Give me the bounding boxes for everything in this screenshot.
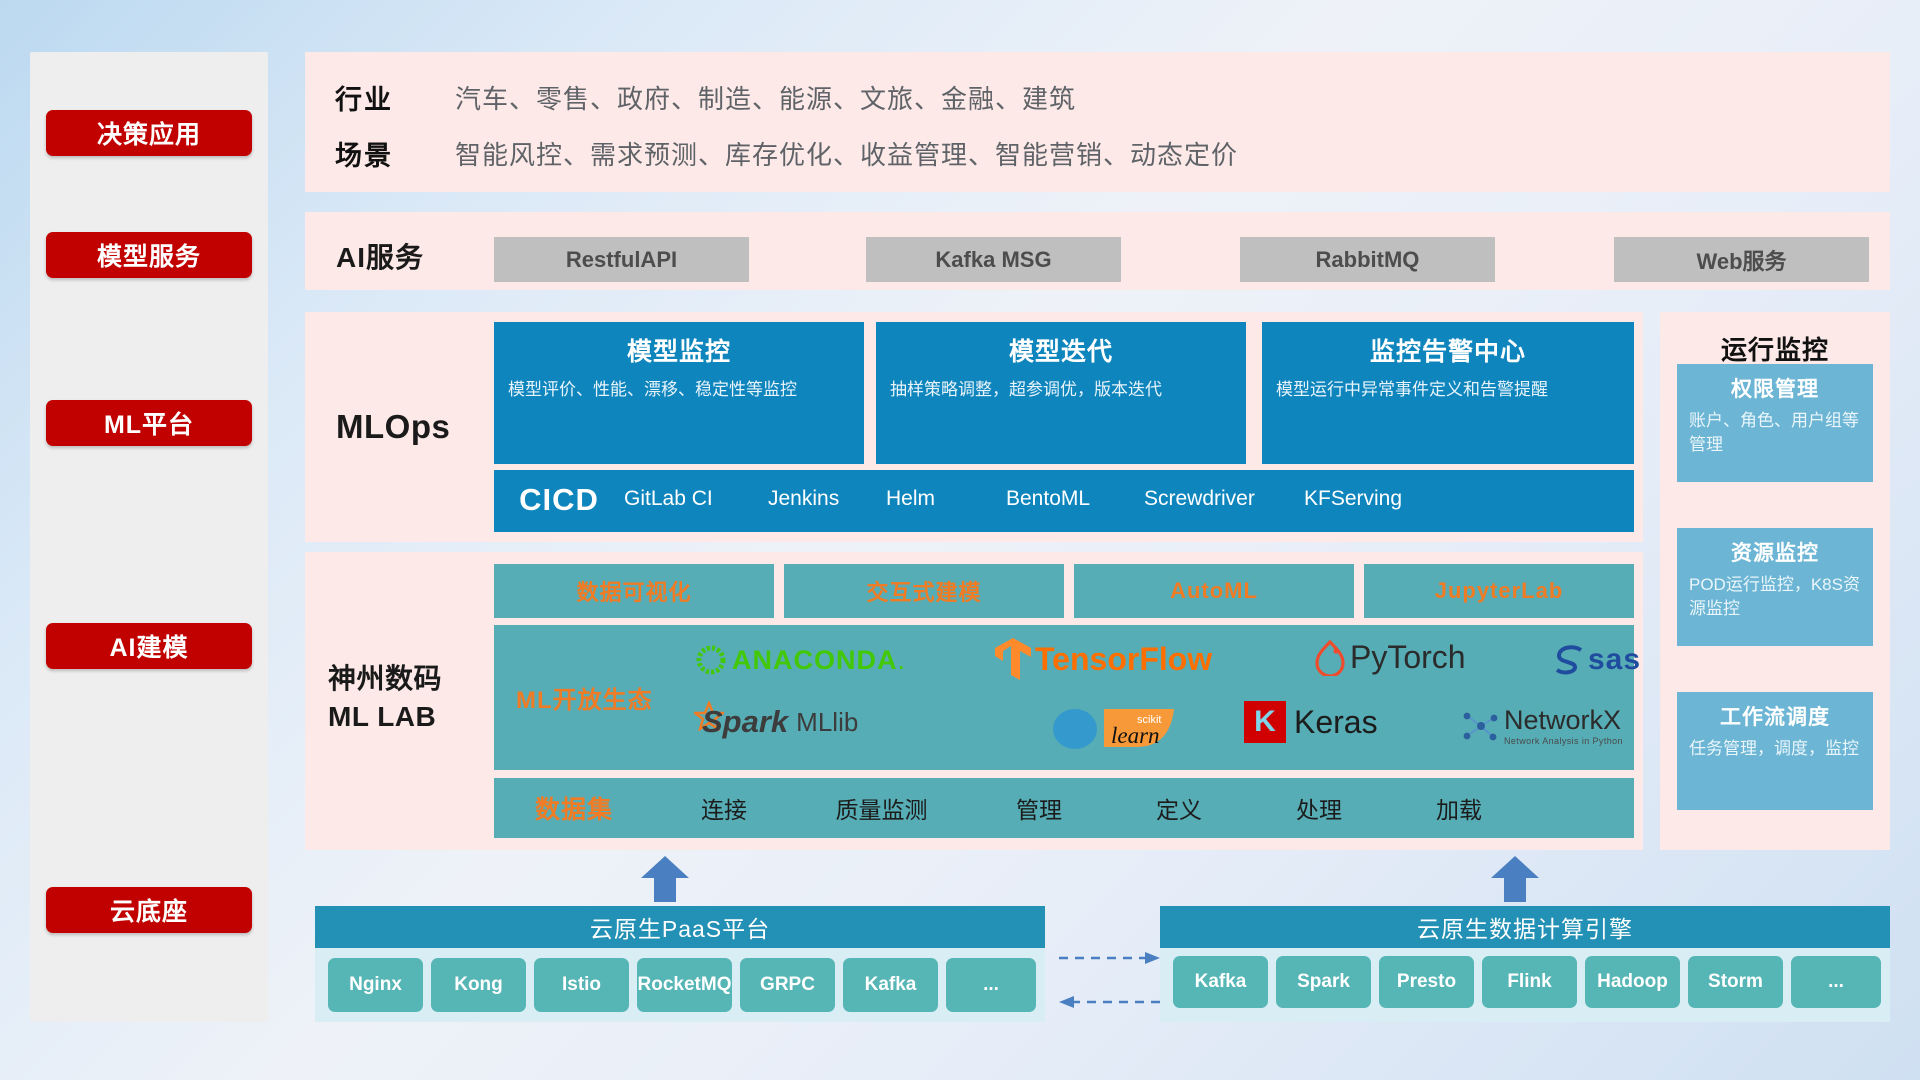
networkx-mark — [1459, 708, 1499, 744]
keras-mark: K — [1244, 701, 1286, 743]
ml-ecosystem-box: ML开放生态 ANACONDA . TensorFlow PyTorch — [494, 625, 1634, 770]
monitor-card-title: 权限管理 — [1689, 373, 1861, 403]
rail-item-ml-platform[interactable]: ML平台 — [46, 400, 252, 446]
scikit-learn-mark: scikit learn — [1049, 699, 1179, 751]
paas-chip-nginx[interactable]: Nginx — [328, 958, 423, 1012]
svg-text:learn: learn — [1111, 723, 1160, 748]
scenario-row: 场景 智能风控、需求预测、库存优化、收益管理、智能营销、动态定价 — [335, 134, 1238, 173]
monitoring-title: 运行监控 — [1660, 330, 1890, 367]
tool-chip-jupyterlab[interactable]: JupyterLab — [1364, 564, 1634, 618]
scenario-value: 智能风控、需求预测、库存优化、收益管理、智能营销、动态定价 — [455, 135, 1238, 172]
mlops-card-title: 模型迭代 — [890, 332, 1232, 368]
rail-item-ai-modeling[interactable]: AI建模 — [46, 623, 252, 669]
dataset-item-load[interactable]: 加载 — [1389, 791, 1529, 825]
dataset-item-quality-monitor[interactable]: 质量监测 — [794, 791, 969, 825]
mlops-card-alert-center[interactable]: 监控告警中心 模型运行中异常事件定义和告警提醒 — [1262, 322, 1634, 464]
mlops-card-desc: 抽样策略调整，超参调优，版本迭代 — [890, 378, 1232, 403]
tool-chip-interactive-modeling[interactable]: 交互式建模 — [784, 564, 1064, 618]
tool-chip-automl[interactable]: AutoML — [1074, 564, 1354, 618]
mlops-label: MLOps — [336, 408, 450, 446]
paas-chip-more[interactable]: ... — [946, 958, 1036, 1012]
engine-chip-storm[interactable]: Storm — [1688, 956, 1783, 1008]
mllib-logo-text: MLlib — [796, 707, 858, 738]
networkx-logo-text: NetworkX — [1504, 705, 1623, 736]
cicd-strip: CICD GitLab CI Jenkins Helm BentoML Scre… — [494, 470, 1634, 532]
pytorch-logo-text: PyTorch — [1350, 639, 1466, 676]
mlops-card-desc: 模型运行中异常事件定义和告警提醒 — [1276, 378, 1620, 403]
paas-chip-istio[interactable]: Istio — [534, 958, 629, 1012]
ml-lab-label-line1: 神州数码 — [328, 660, 442, 698]
service-chip-web-service[interactable]: Web服务 — [1614, 237, 1869, 282]
tensorflow-mark — [994, 637, 1032, 681]
ml-ecosystem-title: ML开放生态 — [516, 680, 653, 715]
up-arrow-left — [640, 856, 690, 902]
networkx-logo: NetworkX Network Analysis in Python — [1459, 705, 1623, 746]
monitor-card-title: 资源监控 — [1689, 537, 1861, 567]
service-chip-restfulapi[interactable]: RestfulAPI — [494, 237, 749, 282]
anaconda-mark — [694, 643, 728, 677]
rail-item-model-service[interactable]: 模型服务 — [46, 232, 252, 278]
mlops-card-desc: 模型评价、性能、漂移、稳定性等监控 — [508, 378, 850, 403]
networkx-tagline: Network Analysis in Python — [1504, 736, 1623, 746]
tensorflow-logo-text: TensorFlow — [1035, 641, 1212, 678]
monitor-card-desc: POD运行监控，K8S资源监控 — [1689, 573, 1861, 621]
industry-key: 行业 — [335, 78, 455, 117]
engine-chip-flink[interactable]: Flink — [1482, 956, 1577, 1008]
cicd-item-helm[interactable]: Helm — [886, 470, 1006, 512]
spark-logo-text: Spark — [702, 704, 788, 740]
monitor-card-workflow[interactable]: 工作流调度 任务管理，调度，监控 — [1677, 692, 1873, 810]
paas-platform-header: 云原生PaaS平台 — [315, 906, 1045, 948]
paas-chip-kafka[interactable]: Kafka — [843, 958, 938, 1012]
paas-chip-grpc[interactable]: GRPC — [740, 958, 835, 1012]
data-engine-header: 云原生数据计算引擎 — [1160, 906, 1890, 948]
ml-lab-label: 神州数码 ML LAB — [328, 660, 442, 736]
keras-logo: K Keras — [1244, 701, 1378, 743]
architecture-diagram: 决策应用 模型服务 ML平台 AI建模 云底座 行业 汽车、零售、政府、制造、能… — [0, 0, 1920, 1080]
anaconda-logo-text: ANACONDA — [732, 645, 898, 676]
cicd-item-screwdriver[interactable]: Screwdriver — [1144, 470, 1304, 512]
engine-chip-hadoop[interactable]: Hadoop — [1585, 956, 1680, 1008]
cicd-title: CICD — [494, 470, 624, 518]
rail-item-decision-app[interactable]: 决策应用 — [46, 110, 252, 156]
paas-chip-kong[interactable]: Kong — [431, 958, 526, 1012]
dataset-item-process[interactable]: 处理 — [1249, 791, 1389, 825]
tool-chip-data-visualization[interactable]: 数据可视化 — [494, 564, 774, 618]
monitor-card-resource[interactable]: 资源监控 POD运行监控，K8S资源监控 — [1677, 528, 1873, 646]
bidirectional-connector — [1055, 940, 1165, 1020]
ai-service-label: AI服务 — [336, 236, 424, 276]
dataset-item-manage[interactable]: 管理 — [969, 791, 1109, 825]
dataset-strip: 数据集 连接 质量监测 管理 定义 处理 加载 — [494, 778, 1634, 838]
mlops-card-title: 监控告警中心 — [1276, 332, 1620, 368]
pytorch-logo: PyTorch — [1314, 639, 1466, 676]
cicd-item-jenkins[interactable]: Jenkins — [768, 470, 886, 512]
tensorflow-logo: TensorFlow — [994, 637, 1212, 681]
anaconda-logo: ANACONDA . — [694, 643, 905, 677]
scenario-key: 场景 — [335, 134, 455, 173]
engine-chip-presto[interactable]: Presto — [1379, 956, 1474, 1008]
cicd-item-gitlab-ci[interactable]: GitLab CI — [624, 470, 768, 512]
mlops-card-model-iteration[interactable]: 模型迭代 抽样策略调整，超参调优，版本迭代 — [876, 322, 1246, 464]
spark-mllib-logo: Spark MLlib — [694, 701, 858, 743]
dataset-title: 数据集 — [494, 790, 654, 826]
sas-mark — [1554, 644, 1588, 676]
monitor-card-permission[interactable]: 权限管理 账户、角色、用户组等管理 — [1677, 364, 1873, 482]
monitor-card-desc: 任务管理，调度，监控 — [1689, 737, 1861, 761]
engine-chip-more[interactable]: ... — [1791, 956, 1881, 1008]
mlops-card-title: 模型监控 — [508, 332, 850, 368]
cicd-item-bentoml[interactable]: BentoML — [1006, 470, 1144, 512]
industry-row: 行业 汽车、零售、政府、制造、能源、文旅、金融、建筑 — [335, 78, 1076, 117]
dataset-item-define[interactable]: 定义 — [1109, 791, 1249, 825]
industry-value: 汽车、零售、政府、制造、能源、文旅、金融、建筑 — [455, 79, 1076, 116]
scikit-learn-logo: scikit learn — [1049, 699, 1179, 751]
up-arrow-right — [1490, 856, 1540, 902]
engine-chip-spark[interactable]: Spark — [1276, 956, 1371, 1008]
cicd-item-kfserving[interactable]: KFServing — [1304, 470, 1444, 512]
keras-logo-text: Keras — [1294, 704, 1378, 741]
sas-logo-text: sas — [1588, 643, 1641, 677]
monitor-card-desc: 账户、角色、用户组等管理 — [1689, 409, 1861, 457]
mlops-card-model-monitor[interactable]: 模型监控 模型评价、性能、漂移、稳定性等监控 — [494, 322, 864, 464]
engine-chip-kafka[interactable]: Kafka — [1173, 956, 1268, 1008]
rail-item-cloud-foundation[interactable]: 云底座 — [46, 887, 252, 933]
anaconda-dot: . — [898, 645, 906, 676]
left-rail: 决策应用 模型服务 ML平台 AI建模 云底座 — [30, 52, 268, 1022]
service-chip-kafka-msg[interactable]: Kafka MSG — [866, 237, 1121, 282]
dataset-item-connect[interactable]: 连接 — [654, 791, 794, 825]
service-chip-rabbitmq[interactable]: RabbitMQ — [1240, 237, 1495, 282]
monitor-card-title: 工作流调度 — [1689, 701, 1861, 731]
sas-logo: sas — [1554, 643, 1641, 677]
pytorch-mark — [1314, 640, 1346, 676]
paas-chip-rocketmq[interactable]: RocketMQ — [637, 958, 732, 1012]
ml-lab-label-line2: ML LAB — [328, 698, 442, 736]
